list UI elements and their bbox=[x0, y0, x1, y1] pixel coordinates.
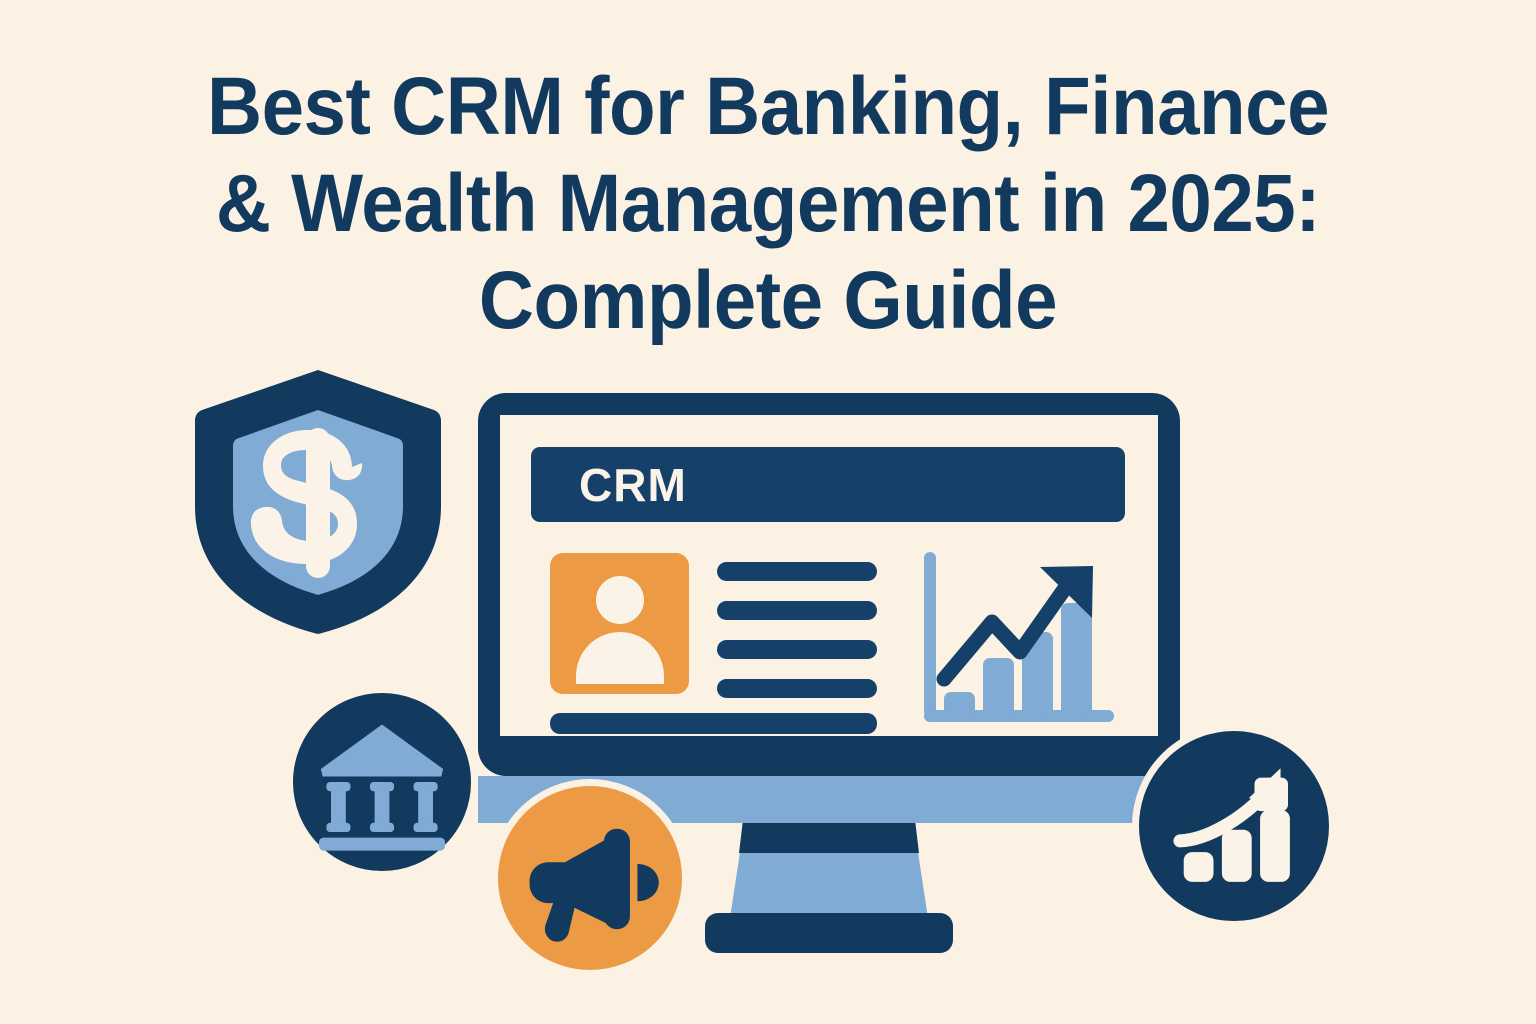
person-avatar-icon-body bbox=[576, 632, 664, 684]
record-field-line bbox=[717, 562, 877, 581]
monitor-base bbox=[705, 913, 953, 953]
contact-avatar-card[interactable] bbox=[550, 553, 689, 694]
page-title-line-3: Complete Guide bbox=[54, 252, 1482, 349]
shield-dollar-icon bbox=[192, 366, 444, 638]
growth-chart-icon[interactable] bbox=[1132, 724, 1336, 928]
page-title-line-2: & Wealth Management in 2025: bbox=[54, 155, 1482, 252]
poster-canvas: Best CRM for Banking, Finance & Wealth M… bbox=[0, 0, 1536, 1024]
record-field-line bbox=[717, 640, 877, 659]
monitor-neck-lower bbox=[730, 853, 928, 918]
page-title-line-1: Best CRM for Banking, Finance bbox=[54, 58, 1482, 155]
monitor-neck-upper bbox=[739, 823, 919, 853]
dashboard-bar-chart bbox=[916, 552, 1116, 737]
crm-app-header: CRM bbox=[531, 447, 1125, 522]
person-avatar-icon-head bbox=[596, 576, 644, 624]
page-title: Best CRM for Banking, Finance & Wealth M… bbox=[54, 58, 1482, 349]
record-field-line bbox=[717, 601, 877, 620]
record-field-line bbox=[717, 679, 877, 698]
record-field-line-wide bbox=[550, 713, 877, 734]
megaphone-icon[interactable] bbox=[491, 779, 689, 977]
bank-building-icon[interactable] bbox=[286, 686, 478, 878]
crm-app-header-label: CRM bbox=[579, 462, 687, 508]
chart-trend-arrow-icon bbox=[916, 544, 1116, 729]
